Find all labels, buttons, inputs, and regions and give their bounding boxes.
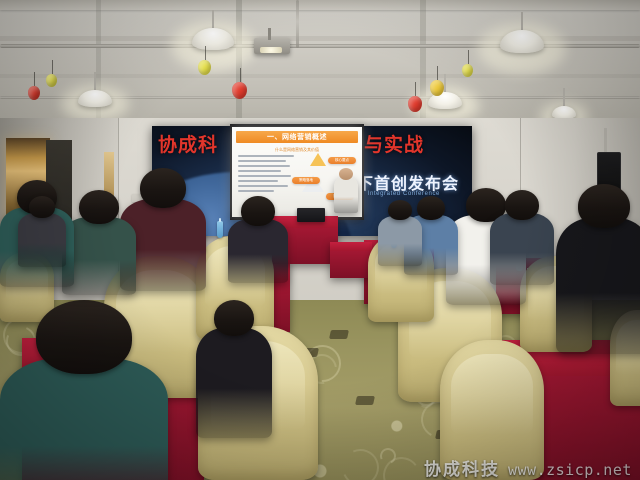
balloon-string [415,82,416,96]
balloon-string [52,60,53,74]
balloon-string [437,66,438,80]
carpet-swirl [337,444,385,480]
banner-title-right: 与实战 [364,130,424,157]
lamp-rod [94,72,96,90]
balloon [198,60,211,75]
water-bottle [217,221,223,238]
person-torso [378,216,422,266]
lamp-rod [563,88,565,106]
lamp-rod [212,10,214,28]
conference-room-photo: 协成科 与实战 下首创发布会 IT Integrated Conference … [0,0,640,480]
watermark-url: www.zsicp.net [508,461,632,479]
balloon-string [468,50,469,64]
audience-member [334,168,358,216]
ceiling-projector [254,38,290,54]
person-head [214,300,254,336]
slide-triangle-graphic [310,153,326,166]
watermark: 协成科技 www.zsicp.net [424,455,632,480]
slide-body-text [238,155,300,195]
carpet-accent [355,396,375,405]
ceiling-pipe-vertical [296,0,299,48]
slide-text-line [238,190,274,192]
slide-callout-pill: 核心要点 [328,157,356,164]
balloon-string [34,72,35,86]
carpet-accent [329,330,349,339]
slide-text-line [238,185,288,187]
banner-title-left: 协成科 [158,130,218,157]
table-top [330,242,372,251]
ceiling [0,0,640,128]
audience-member [18,196,66,272]
slide-text-line [238,160,286,162]
balloon [46,74,57,87]
person-torso [228,219,288,283]
laptop [297,208,325,222]
slide-header-bar: 一、网络营销概述 [236,131,358,143]
balloon [408,96,422,112]
person-head [578,184,630,228]
slide-text-line [238,170,281,172]
audience-member [556,184,640,364]
person-head [36,300,132,374]
slide-text-line [238,175,291,177]
slide-callout-pill: 策略落地 [292,177,320,184]
slide-title: 一、网络营销概述 [267,132,327,142]
slide-text-line [238,165,290,167]
balloon-string [240,68,241,82]
projector-mount [268,28,271,40]
person-head [29,196,55,218]
person-head [79,190,119,224]
lamp-rod [521,12,523,30]
person-head [505,190,539,220]
audience-member [378,200,422,270]
person-torso [334,177,358,213]
draped-table [330,242,372,278]
person-head [339,168,353,180]
audience-member [0,300,168,480]
person-torso [490,213,554,285]
balloon-string [205,46,206,60]
slide-text-line [238,180,278,182]
person-torso [556,218,640,354]
person-torso [18,213,66,267]
balloon [28,86,40,100]
balloon [232,82,247,99]
projector-lens [260,47,282,53]
person-head [140,168,186,208]
lamp-rod [444,74,446,92]
person-torso [196,328,272,438]
ceiling-lamp [78,90,112,107]
person-head [241,196,275,226]
balloon [430,80,444,96]
balloon [462,64,473,77]
watermark-company: 协成科技 [424,455,500,480]
audience-member [196,300,272,446]
slide-subtitle: 什么是网络营销及其价值 [232,147,362,153]
audience-member [490,190,554,292]
slide-text-line [238,155,294,157]
audience-member [228,196,288,290]
person-torso [0,358,168,480]
person-head [388,200,412,220]
